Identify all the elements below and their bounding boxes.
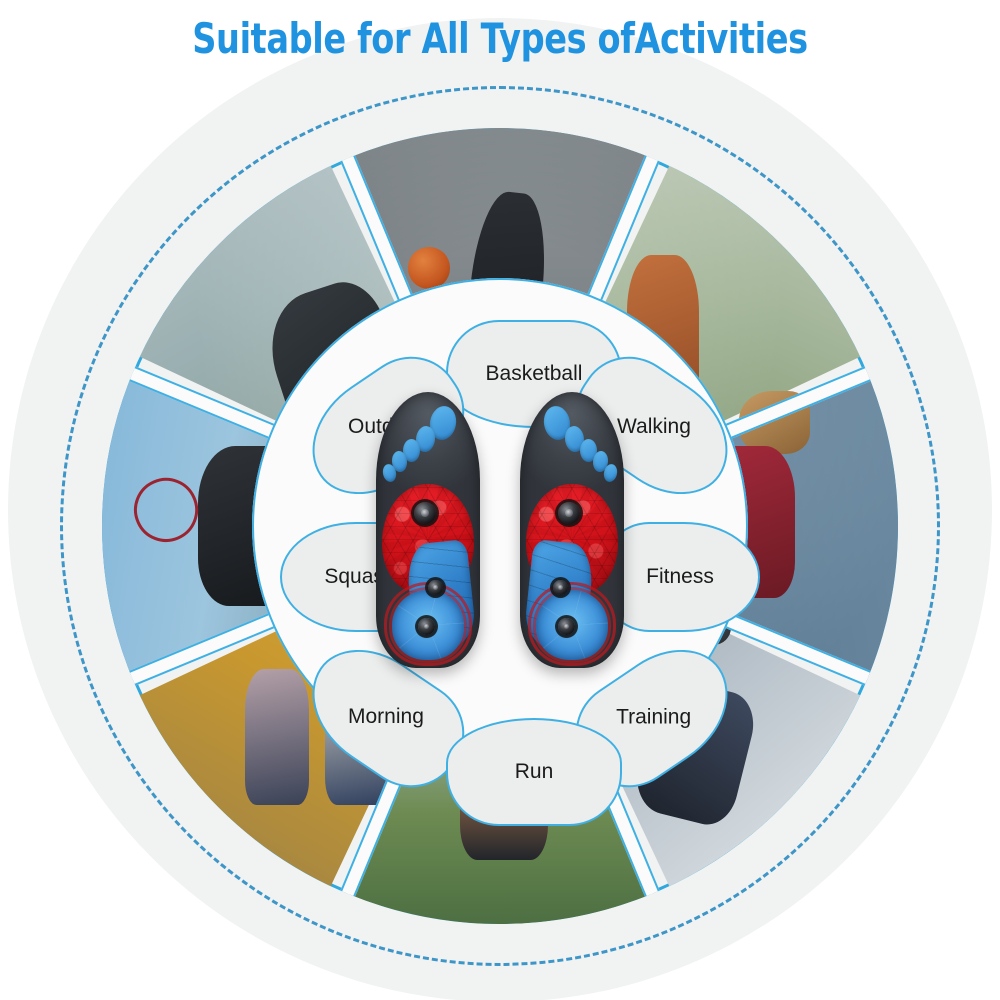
- product-insoles[interactable]: [372, 392, 628, 668]
- segment-label-morning: Morning: [348, 705, 424, 729]
- segment-label-walking: Walking: [617, 415, 691, 439]
- segment-label-training: Training: [616, 705, 691, 729]
- insole-left-arch-magnet-icon: [428, 580, 443, 595]
- insole-right-heel-magnet-icon: [558, 618, 575, 635]
- insole-left-forefoot-magnet-icon: [414, 502, 436, 524]
- insole-right: [520, 392, 624, 668]
- insole-right-forefoot-magnet-icon: [558, 502, 580, 524]
- label-petal-run[interactable]: Run: [446, 718, 622, 826]
- basketball-ball-icon: [408, 247, 449, 288]
- segment-photo-morning-figure-a: [245, 669, 309, 804]
- segment-label-fitness: Fitness: [646, 565, 714, 589]
- insole-left: [376, 392, 480, 668]
- insole-left-heel-magnet-icon: [418, 618, 435, 635]
- insole-right-arch-magnet-icon: [553, 580, 568, 595]
- infographic-canvas: Suitable for All Types ofActivities: [0, 0, 1000, 1000]
- page-title: Suitable for All Types ofActivities: [100, 14, 900, 63]
- segment-label-run: Run: [515, 760, 554, 784]
- segment-label-basketball: Basketball: [486, 362, 583, 386]
